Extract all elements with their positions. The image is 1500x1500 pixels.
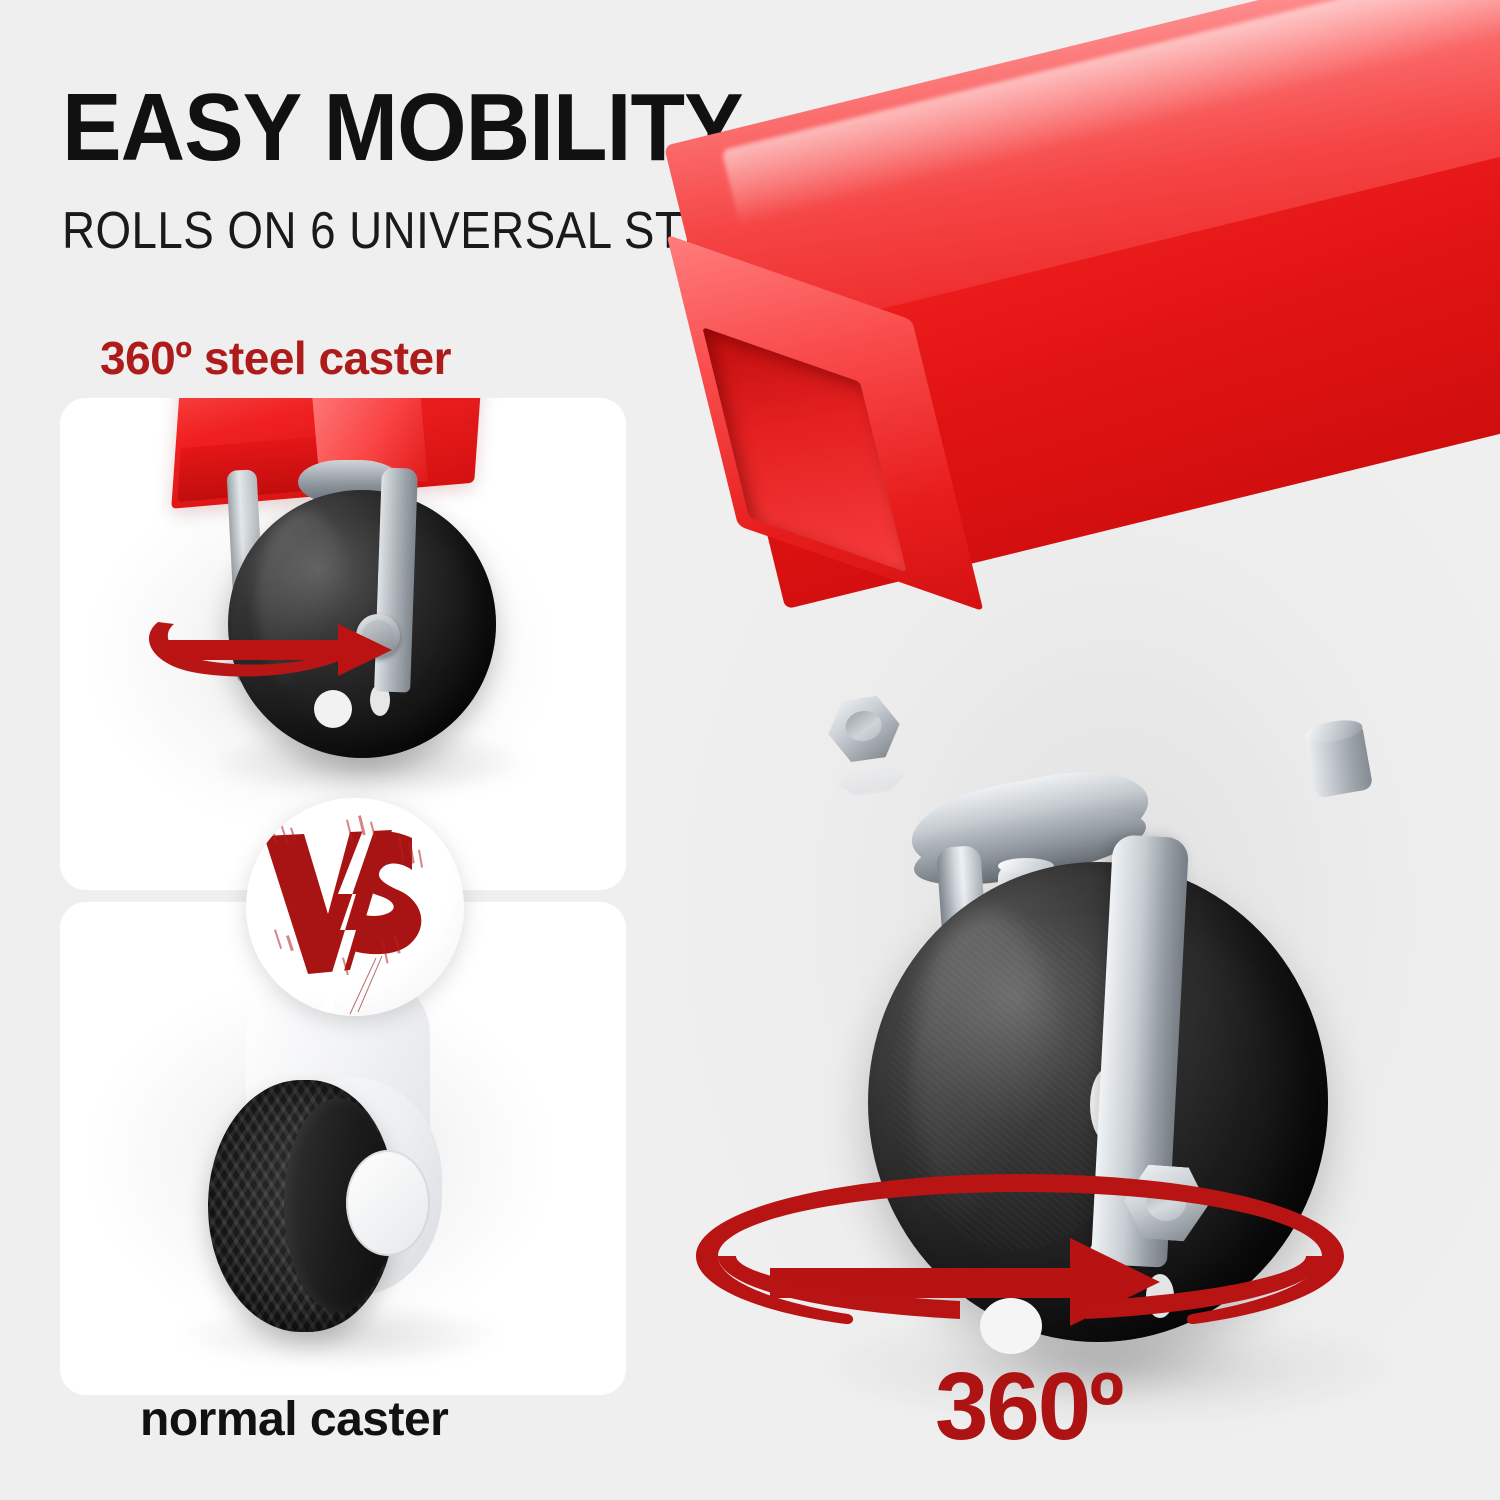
chrome-stud-icon [1305, 723, 1374, 798]
caster-side-plate [346, 1150, 430, 1256]
normal-caster-label: normal caster [140, 1392, 448, 1448]
hero-product-photo: 360º [650, 120, 1500, 1440]
rotation-degree-label: 360º [935, 1355, 1122, 1459]
vs-badge [246, 798, 464, 1016]
marketing-image-canvas: EASY MOBILITY ROLLS ON 6 UNIVERSAL STEEL… [0, 0, 1500, 1500]
steel-caster-label: 360º steel caster [100, 332, 451, 384]
rotation-arrow-icon [130, 566, 460, 696]
page-title: EASY MOBILITY [62, 78, 743, 178]
vs-grunge-icon [246, 798, 464, 1016]
